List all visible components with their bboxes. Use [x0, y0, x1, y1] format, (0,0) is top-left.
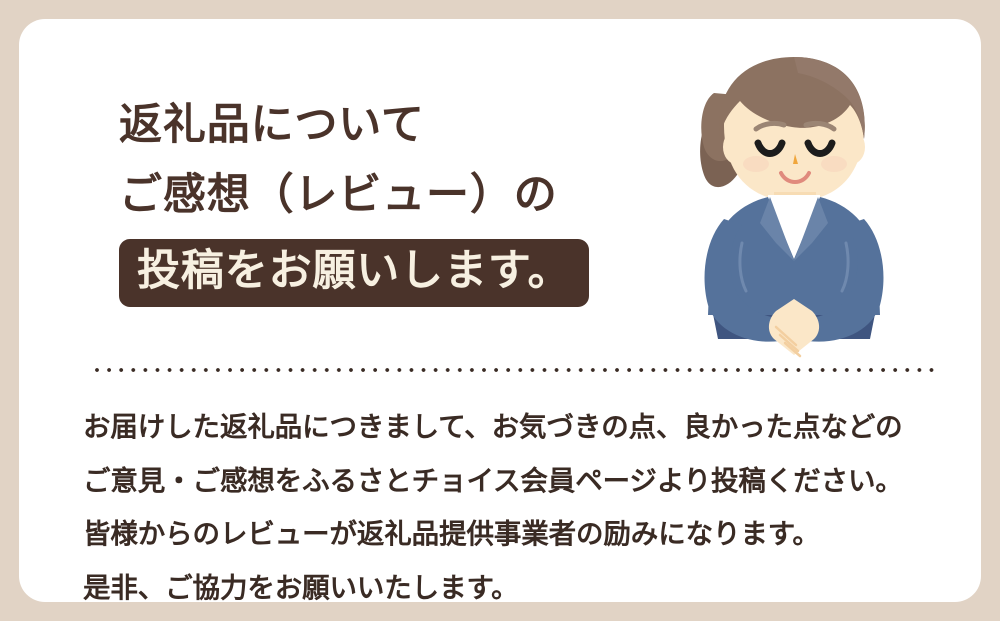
headline-line-1: 返礼品について — [119, 91, 639, 161]
body-copy: お届けした返礼品につきまして、お気づきの点、良かった点などの ご意見・ご感想をふ… — [83, 401, 973, 602]
headline-block: 返礼品について ご感想（レビュー）の 投稿をお願いします。 — [119, 91, 639, 307]
bowing-woman-svg — [664, 47, 964, 367]
body-line: 皆様からのレビューが返礼品提供事業者の励みになります。 — [83, 508, 973, 562]
body-line: お届けした返礼品につきまして、お気づきの点、良かった点などの — [83, 401, 973, 455]
blush-right — [821, 156, 847, 172]
headline-badge: 投稿をお願いします。 — [119, 239, 589, 307]
body-line: 是非、ご協力をお願いいたします。 — [83, 562, 973, 602]
dotted-divider — [95, 368, 941, 372]
blush-left — [743, 156, 769, 172]
bowing-woman-illustration — [664, 47, 964, 367]
headline-badge-text: 投稿をお願いします。 — [137, 246, 571, 296]
body-line: ご意見・ご感想をふるさとチョイス会員ページより投稿ください。 — [83, 455, 973, 509]
headline-line-2: ご感想（レビュー）の — [119, 161, 639, 231]
banner-card: 返礼品について ご感想（レビュー）の 投稿をお願いします。 お届けした返礼品につ… — [19, 19, 981, 602]
review-request-banner: 返礼品について ご感想（レビュー）の 投稿をお願いします。 お届けした返礼品につ… — [0, 0, 1000, 621]
